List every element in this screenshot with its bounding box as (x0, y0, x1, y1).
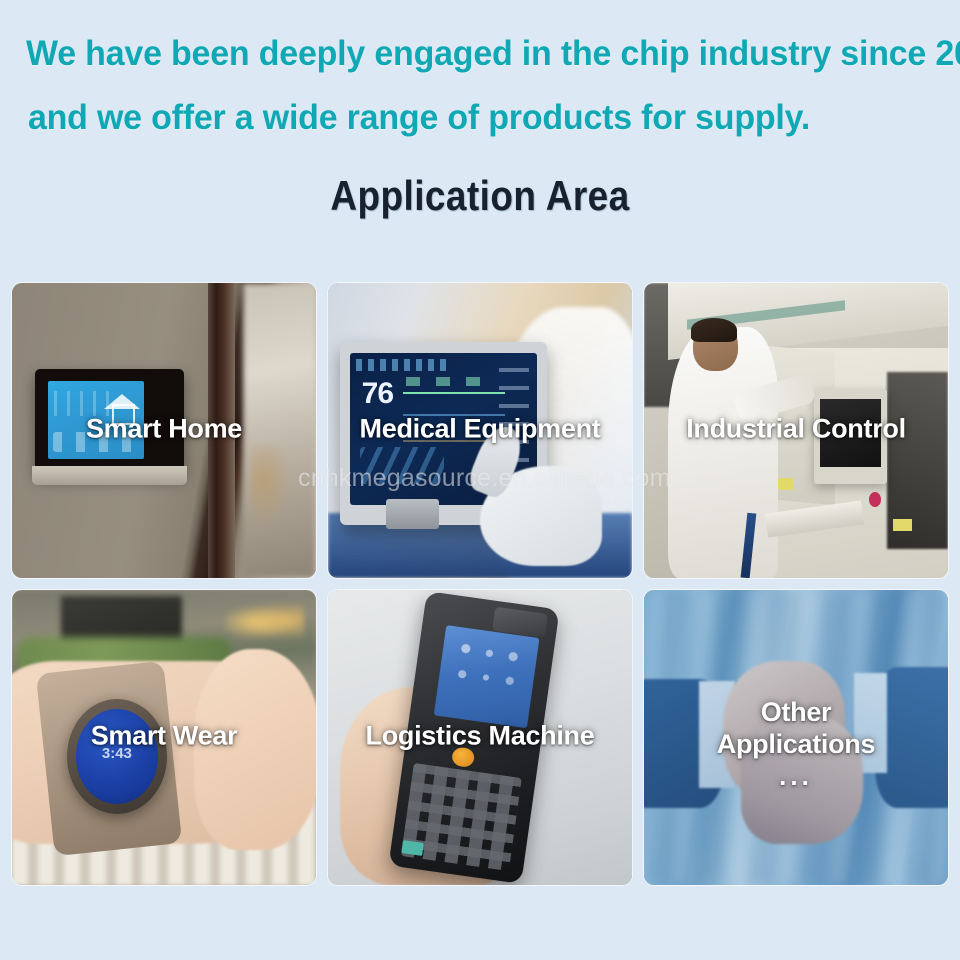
card-label-other-line-3: ... (644, 760, 948, 792)
headline-line-2: and we offer a wide range of products fo… (26, 86, 907, 150)
card-logistics-machine[interactable]: Logistics Machine (328, 590, 632, 885)
card-label-logistics-machine: Logistics Machine (328, 719, 632, 751)
card-medical-equipment[interactable]: 76 Medical Equipment (328, 283, 632, 578)
page-header: We have been deeply engaged in the chip … (0, 0, 960, 222)
monitor-reading-value: 76 (362, 377, 393, 411)
smartwatch-device: 3:43 (67, 699, 167, 814)
section-title: Application Area (80, 170, 879, 222)
card-label-other-applications: Other Applications ... (644, 696, 948, 792)
card-smart-home[interactable]: Smart Home (12, 283, 316, 578)
card-label-smart-wear: Smart Wear (12, 719, 316, 751)
card-other-applications[interactable]: Other Applications ... (644, 590, 948, 885)
card-label-smart-home: Smart Home (12, 412, 316, 444)
card-label-industrial-control: Industrial Control (644, 412, 948, 444)
card-smart-wear[interactable]: 3:43 Smart Wear (12, 590, 316, 885)
card-label-other-line-2: Applications (644, 728, 948, 760)
card-label-other-line-1: Other (761, 697, 832, 727)
application-area-grid: Smart Home 76 Medical Equipment (12, 283, 948, 885)
card-industrial-control[interactable]: Industrial Control (644, 283, 948, 578)
headline-line-1: We have been deeply engaged in the chip … (26, 22, 907, 86)
card-label-medical-equipment: Medical Equipment (328, 412, 632, 444)
